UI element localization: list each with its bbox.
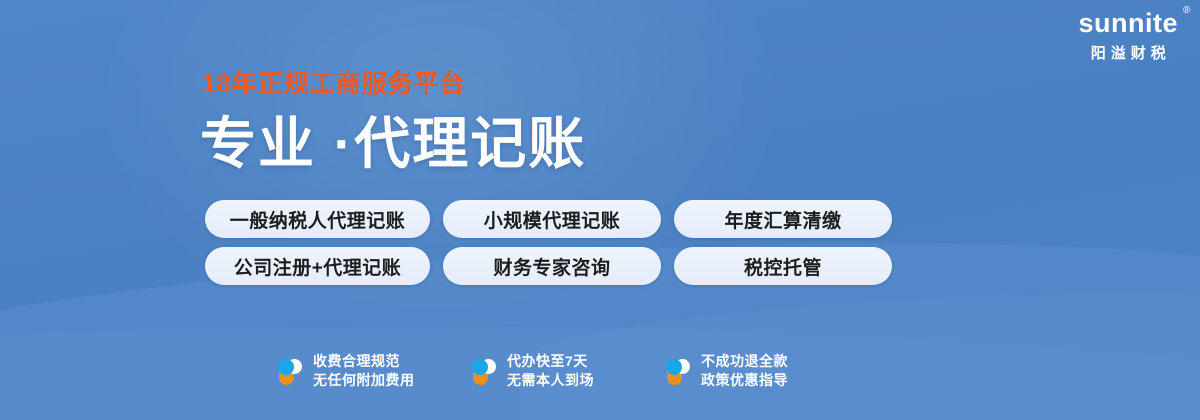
- brand-wordmark: sunnite ®: [1078, 10, 1178, 37]
- feature-item-guarantee: 不成功退全款 政策优惠指导: [664, 352, 834, 390]
- background-glow: [60, 0, 820, 360]
- page-title: 专业 ·代理记账: [200, 116, 586, 172]
- registered-trademark-icon: ®: [1183, 6, 1191, 16]
- feature-text-speed: 代办快至7天 无需本人到场: [507, 352, 594, 390]
- brand-wordmark-text: sunnite: [1078, 8, 1178, 38]
- feature-line-2: 无需本人到场: [507, 371, 594, 390]
- brand-chinese-name: 阳溢财税: [1078, 46, 1178, 61]
- feature-line-1: 收费合理规范: [313, 352, 415, 371]
- service-tag-small-scale[interactable]: 小规模代理记账: [443, 200, 661, 238]
- dot-shape: [278, 359, 294, 375]
- feature-line-1: 不成功退全款: [701, 352, 788, 371]
- feature-text-guarantee: 不成功退全款 政策优惠指导: [701, 352, 788, 390]
- moon-drop-icon: [470, 356, 498, 386]
- feature-line-2: 无任何附加费用: [313, 371, 415, 390]
- service-tag-general-taxpayer[interactable]: 一般纳税人代理记账: [205, 200, 430, 238]
- moon-drop-icon: [276, 356, 304, 386]
- service-tag-expert-consulting[interactable]: 财务专家咨询: [443, 247, 661, 285]
- dot-shape: [666, 359, 682, 375]
- dot-shape: [472, 359, 488, 375]
- feature-item-pricing: 收费合理规范 无任何附加费用: [276, 352, 446, 390]
- feature-item-speed: 代办快至7天 无需本人到场: [470, 352, 640, 390]
- service-tag-list: 一般纳税人代理记账 小规模代理记账 年度汇算清缴 公司注册+代理记账 财务专家咨…: [205, 200, 905, 285]
- hero-eyebrow: 18年正规工商服务平台: [202, 72, 586, 97]
- brand-logo[interactable]: sunnite ® 阳溢财税: [1078, 10, 1178, 61]
- promo-banner: sunnite ® 阳溢财税 18年正规工商服务平台 专业 ·代理记账 一般纳税…: [0, 0, 1200, 420]
- hero-copy: 18年正规工商服务平台 专业 ·代理记账: [200, 72, 586, 172]
- feature-line-1: 代办快至7天: [507, 352, 594, 371]
- feature-strip: 收费合理规范 无任何附加费用 代办快至7天 无需本人到场 不成功退全款: [276, 352, 834, 390]
- feature-line-2: 政策优惠指导: [701, 371, 788, 390]
- moon-drop-icon: [664, 356, 692, 386]
- service-tag-tax-control-hosting[interactable]: 税控托管: [674, 247, 892, 285]
- feature-text-pricing: 收费合理规范 无任何附加费用: [313, 352, 415, 390]
- service-tag-company-registration[interactable]: 公司注册+代理记账: [205, 247, 430, 285]
- service-tag-annual-settlement[interactable]: 年度汇算清缴: [674, 200, 892, 238]
